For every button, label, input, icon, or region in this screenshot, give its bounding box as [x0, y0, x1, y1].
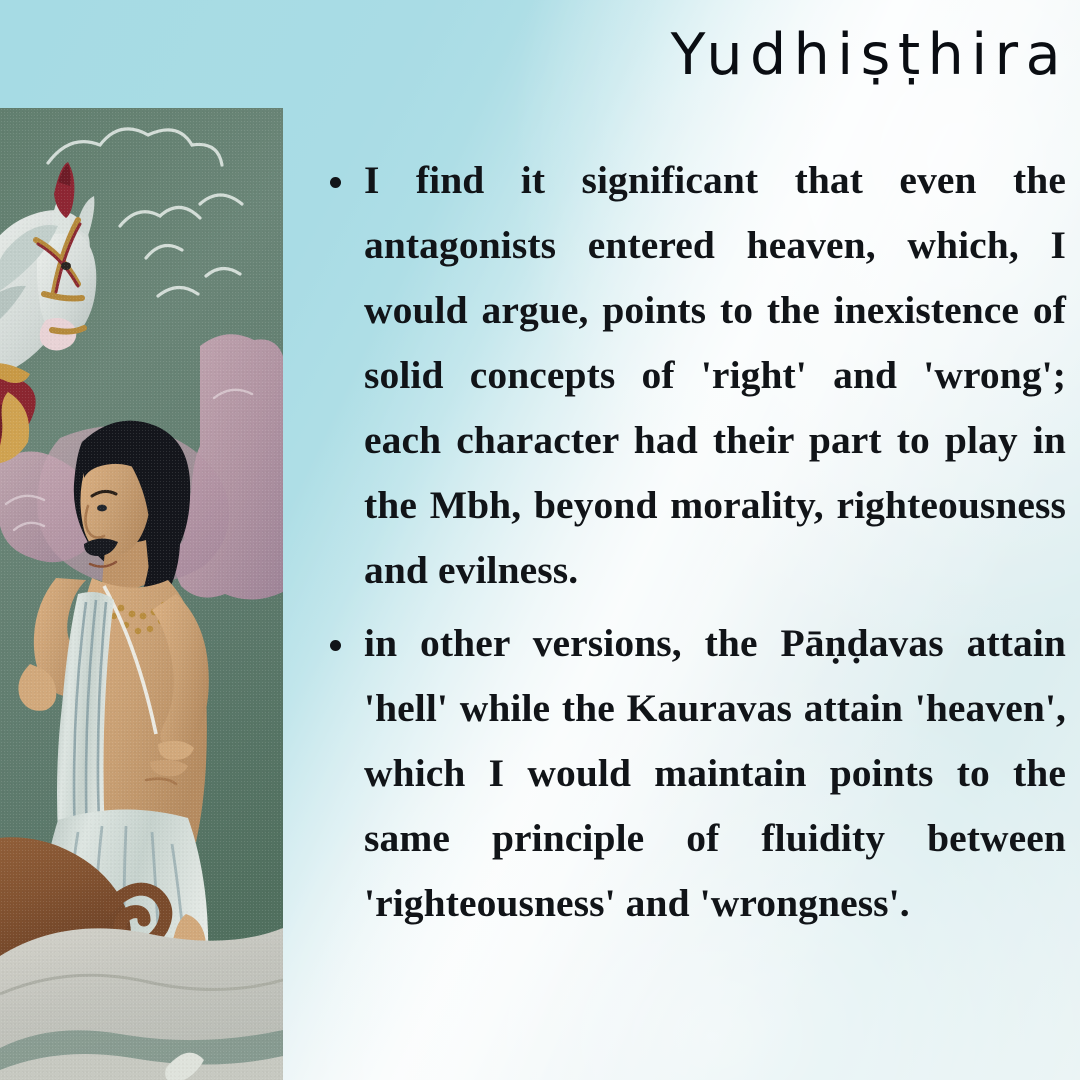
body-text-block: I find it significant that even the anta…: [318, 148, 1066, 936]
yudhishthira-illustration: [0, 108, 283, 1080]
bullet-list: I find it significant that even the anta…: [318, 148, 1066, 936]
illustration-artwork: [0, 108, 283, 1080]
slide-canvas: Yudhiṣṭhira I find it significant that e…: [0, 0, 1080, 1080]
page-title: Yudhiṣṭhira: [300, 26, 1068, 86]
list-item: I find it significant that even the anta…: [318, 148, 1066, 603]
list-item: in other versions, the Pāṇḍavas attain '…: [318, 611, 1066, 936]
